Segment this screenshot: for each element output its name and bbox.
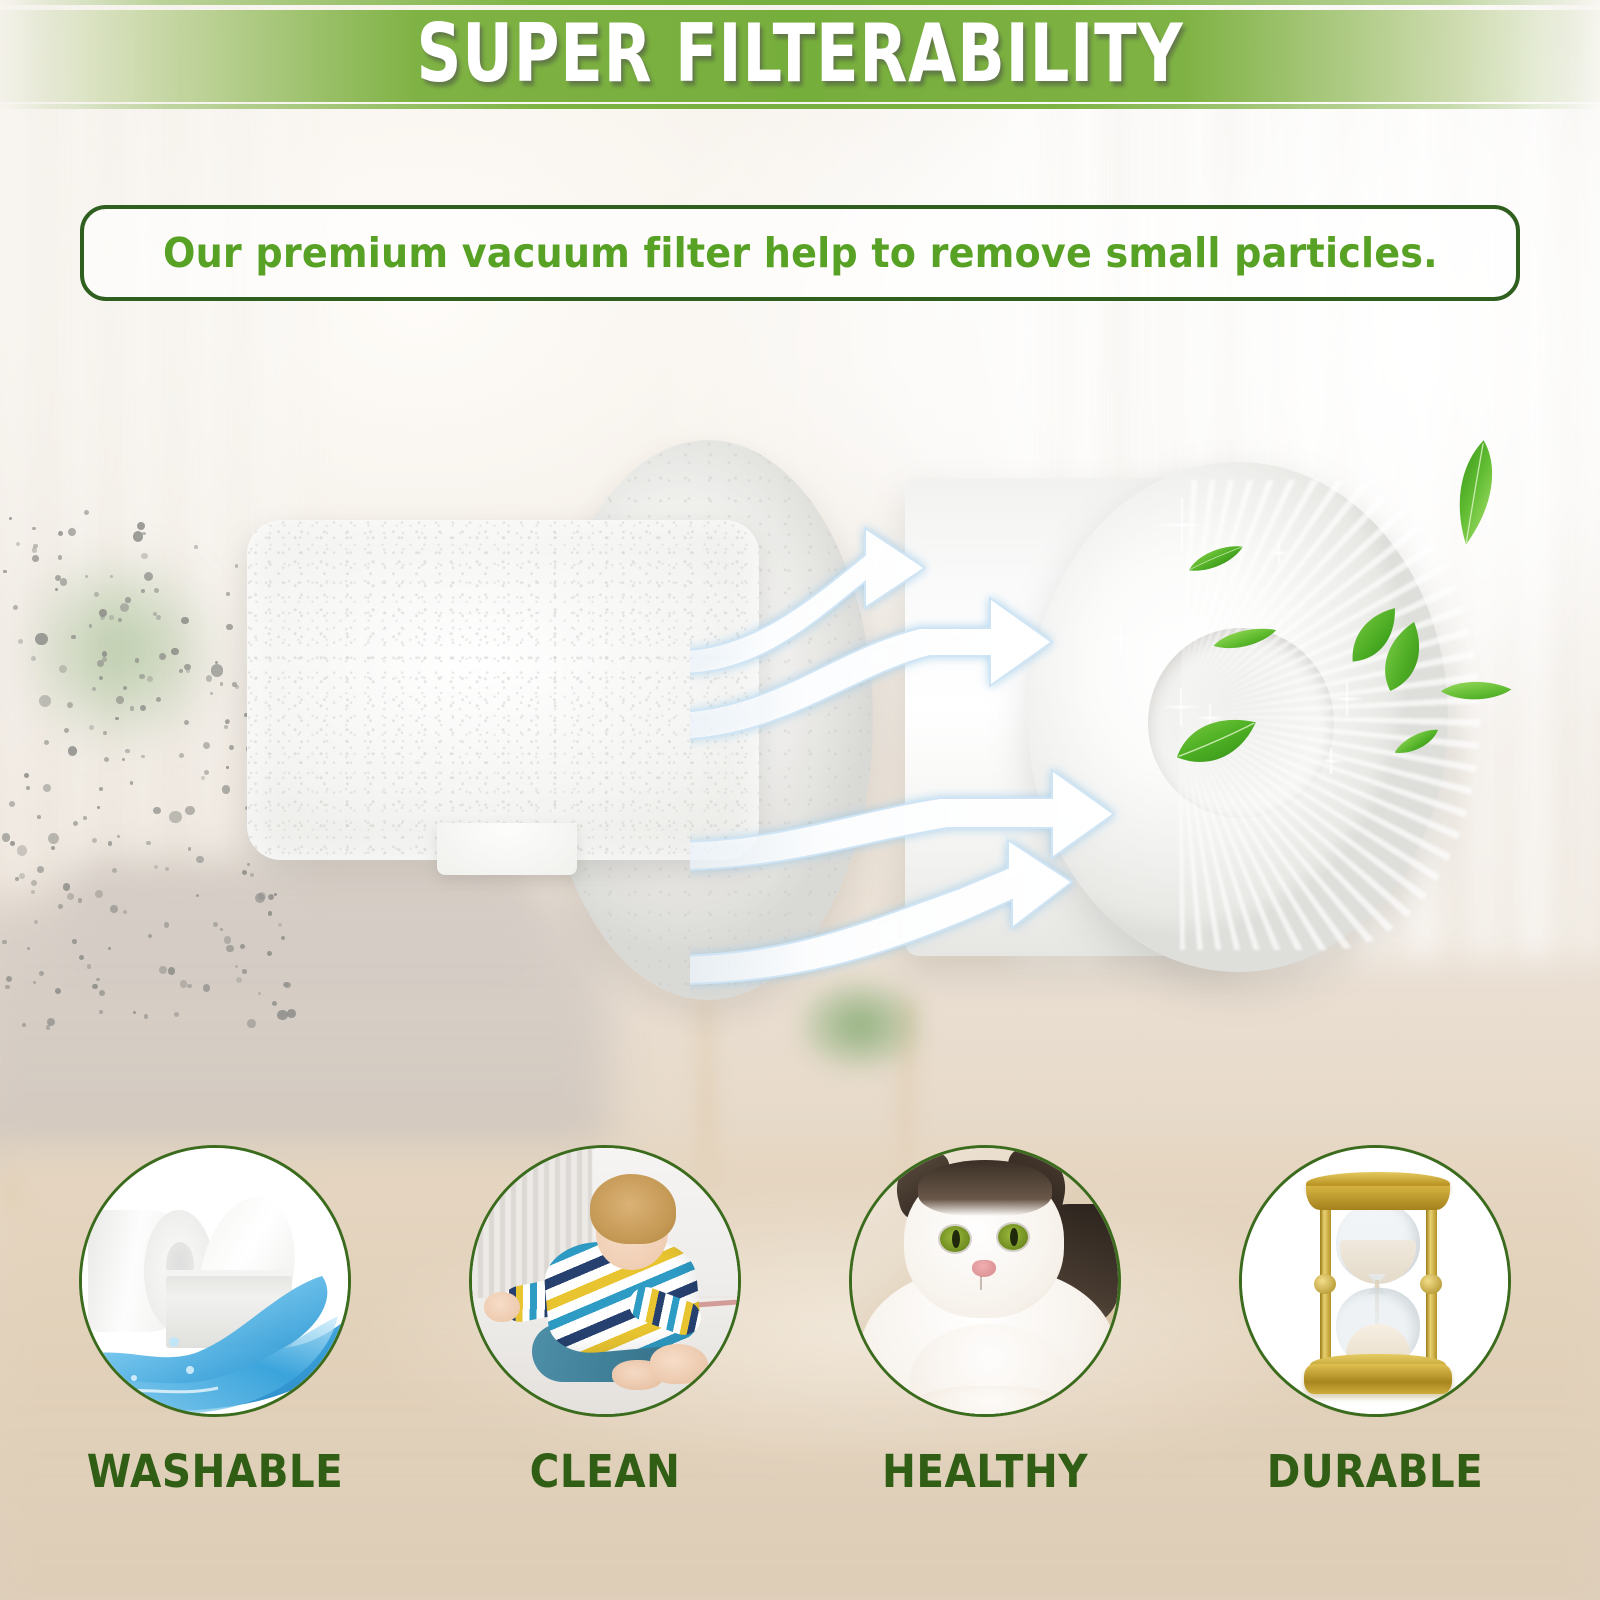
- leaf-icon-6: [1342, 606, 1406, 667]
- cat-mouth: [980, 1276, 989, 1290]
- cat-left-pupil: [952, 1230, 960, 1248]
- feature-item-washable[interactable]: WASHABLE: [65, 1145, 365, 1498]
- feature-label-durable: DURABLE: [1240, 1445, 1510, 1498]
- flat-filter-texture: [247, 520, 759, 860]
- hourglass-right-knob: [1420, 1274, 1442, 1294]
- hourglass-top-rim: [1306, 1186, 1450, 1210]
- feature-image-washable[interactable]: [79, 1145, 351, 1417]
- subtitle-callout-box: Our premium vacuum filter help to remove…: [80, 205, 1520, 301]
- feature-image-durable[interactable]: [1239, 1145, 1511, 1417]
- leaf-icon-7: [1439, 672, 1514, 711]
- hero-product-illustration: [0, 330, 1600, 1130]
- feature-label-healthy: HEALTHY: [850, 1445, 1120, 1498]
- subtitle-text: Our premium vacuum filter help to remove…: [163, 229, 1438, 277]
- flat-filter-notch-tab: [437, 823, 577, 875]
- airflow-arrow-3: [690, 770, 1114, 870]
- feature-image-clean[interactable]: [469, 1145, 741, 1417]
- feature-image-healthy[interactable]: [849, 1145, 1121, 1417]
- product-infographic-poster: SUPER FILTERABILITY Our premium vacuum f…: [0, 0, 1600, 1600]
- hourglass-base-plate: [1304, 1364, 1452, 1394]
- header-top-rule: [0, 0, 1600, 5]
- cat-head-markings: [918, 1160, 1052, 1216]
- toddler-left-hand: [484, 1292, 520, 1322]
- cat-paws: [910, 1386, 1070, 1417]
- header-banner: SUPER FILTERABILITY: [0, 0, 1600, 112]
- flat-filter-pad: [247, 520, 759, 860]
- water-splash-icon: [79, 1274, 351, 1417]
- feature-item-clean[interactable]: CLEAN: [455, 1145, 755, 1498]
- page-title: SUPER FILTERABILITY: [176, 8, 1424, 100]
- cat-nose: [972, 1260, 996, 1277]
- header-bottom-rule: [0, 104, 1600, 109]
- hourglass-left-knob: [1314, 1274, 1336, 1294]
- feature-label-washable: WASHABLE: [80, 1445, 350, 1498]
- feature-highlights-row: WASHABLE CLEAN: [0, 1145, 1600, 1600]
- toddler-hair: [590, 1174, 676, 1244]
- cat-right-pupil: [1010, 1228, 1018, 1246]
- feature-label-clean: CLEAN: [470, 1445, 740, 1498]
- airflow-arrow-2: [690, 598, 1052, 740]
- leaf-icon-5: [1441, 435, 1508, 551]
- feature-item-durable[interactable]: DURABLE: [1225, 1145, 1525, 1498]
- toddler-right-foot: [650, 1344, 708, 1384]
- feature-item-healthy[interactable]: HEALTHY: [835, 1145, 1135, 1498]
